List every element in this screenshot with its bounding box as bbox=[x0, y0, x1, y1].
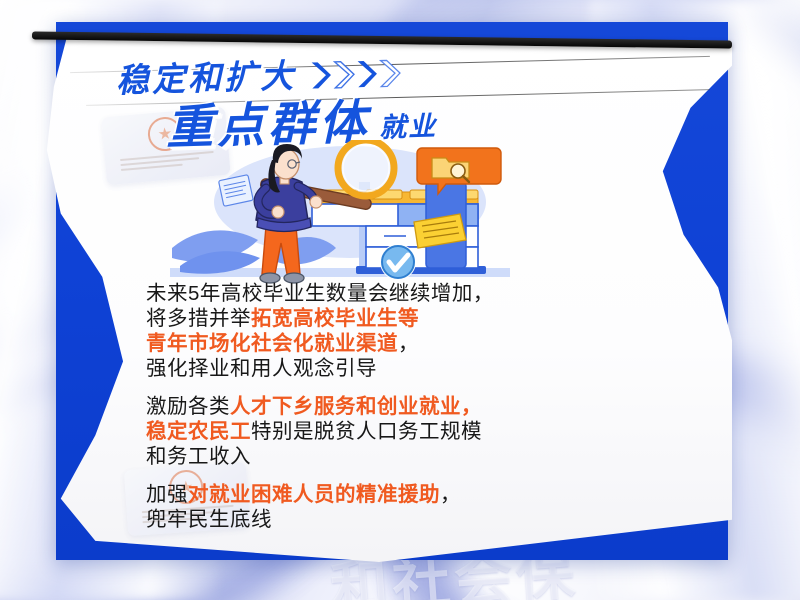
text-line: 将多措并举拓宽高校毕业生等 bbox=[146, 306, 706, 331]
chevron-outline-1-icon bbox=[333, 59, 356, 90]
plain-phrase: 兜牢民生底线 bbox=[146, 508, 272, 531]
chevron-solid-1-icon bbox=[310, 59, 333, 90]
text-line: 稳定农民工特别是脱贫人口务工规模 bbox=[146, 419, 706, 444]
plain-phrase: 激励各类 bbox=[146, 395, 230, 418]
plain-phrase: 强化择业和用人观念引导 bbox=[146, 357, 377, 380]
highlighted-phrase: 青年市场化社会化就业渠道 bbox=[146, 332, 398, 355]
text-line: 加强对就业困难人员的精准援助， bbox=[146, 482, 706, 507]
highlighted-phrase: 对就业困难人员的精准援助 bbox=[188, 483, 440, 506]
job-search-illustration bbox=[170, 140, 510, 292]
poster-root: 和社会保 稳定和扩大 bbox=[0, 0, 800, 600]
plain-phrase: ， bbox=[398, 332, 419, 355]
plain-phrase: 加强 bbox=[146, 483, 188, 506]
plain-phrase: 特别是脱贫人口务工规模 bbox=[251, 420, 482, 443]
highlighted-phrase: 拓宽高校毕业生等 bbox=[251, 307, 419, 330]
text-line: 未来5年高校毕业生数量会继续增加， bbox=[146, 281, 706, 306]
text-line: 激励各类人才下乡服务和创业就业， bbox=[146, 394, 706, 419]
plain-phrase: 未来5年高校毕业生数量会继续增加 bbox=[146, 282, 473, 305]
chevron-outline-2-icon bbox=[379, 58, 402, 89]
blue-check-badge bbox=[380, 244, 416, 280]
text-line: 青年市场化社会化就业渠道， bbox=[146, 331, 706, 356]
chevron-solid-2-icon bbox=[356, 58, 379, 89]
body-text-block: 未来5年高校毕业生数量会继续增加，将多措并举拓宽高校毕业生等青年市场化社会化就业… bbox=[146, 281, 706, 545]
paragraph-graduates: 未来5年高校毕业生数量会继续增加，将多措并举拓宽高校毕业生等青年市场化社会化就业… bbox=[146, 281, 706, 381]
plain-phrase: 将多措并举 bbox=[146, 307, 251, 330]
highlighted-phrase: 稳定农民工 bbox=[146, 420, 251, 443]
plain-phrase: ， bbox=[440, 483, 461, 506]
paragraph-rural-talent: 激励各类人才下乡服务和创业就业，稳定农民工特别是脱贫人口务工规模和务工收入 bbox=[146, 394, 706, 469]
chevron-group bbox=[310, 58, 402, 91]
plain-phrase: 和务工收入 bbox=[146, 445, 251, 468]
paragraph-assistance: 加强对就业困难人员的精准援助，兜牢民生底线 bbox=[146, 482, 706, 532]
text-line: 兜牢民生底线 bbox=[146, 507, 706, 532]
headline-line-1: 稳定和扩大 bbox=[116, 56, 402, 97]
headline-line-1-text: 稳定和扩大 bbox=[116, 59, 297, 97]
text-line: 强化择业和用人观念引导 bbox=[146, 356, 706, 381]
plain-phrase: ， bbox=[473, 282, 494, 305]
text-line: 和务工收入 bbox=[146, 444, 706, 469]
highlighted-phrase: 人才下乡服务和创业就业， bbox=[230, 395, 482, 418]
